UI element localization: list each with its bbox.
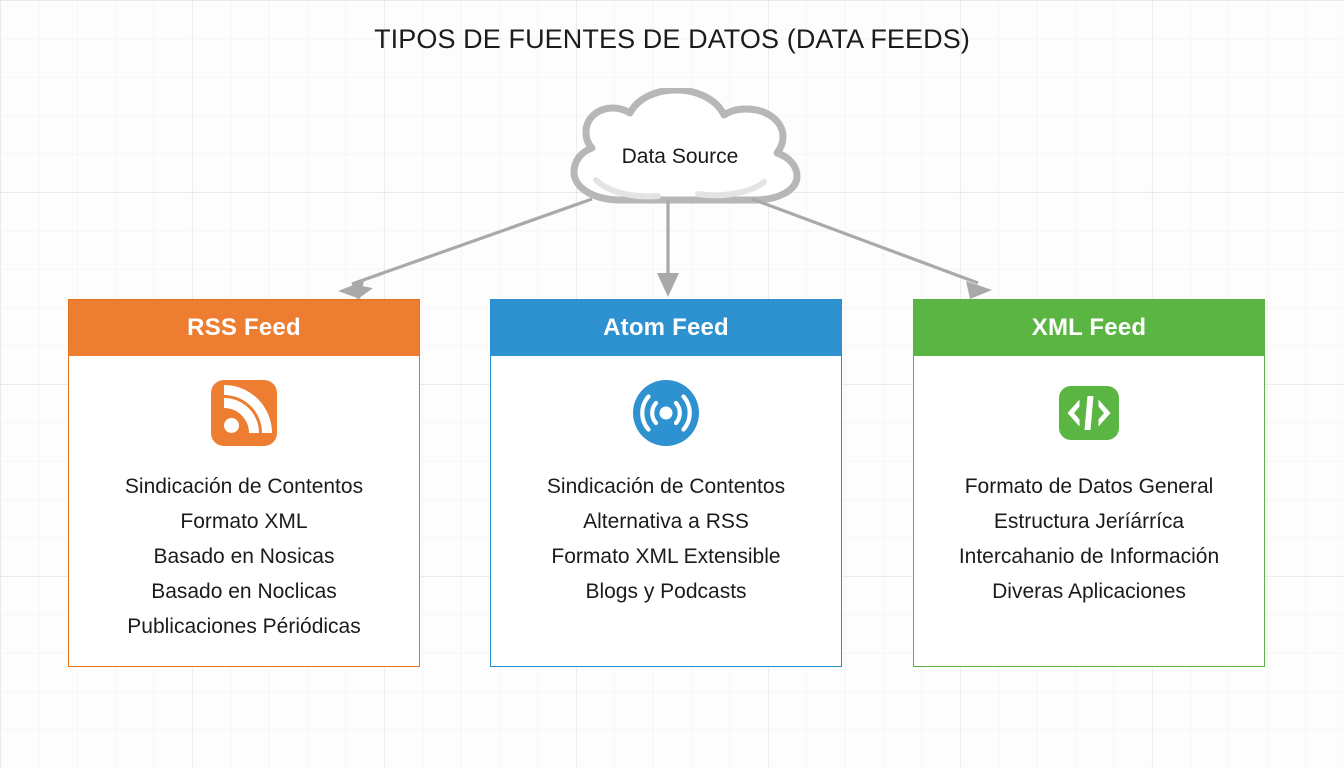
feed-card-rss[interactable]: RSS Feed Sindicación de Contentos Format… — [68, 299, 420, 667]
diagram-canvas: TIPOS DE FUENTES DE DATOS (DATA FEEDS) D… — [0, 0, 1344, 768]
arrow-to-atom — [657, 200, 679, 297]
data-source-label: Data Source — [548, 88, 806, 206]
card-line: Sindicación de Contentos — [69, 469, 419, 504]
card-line: Blogs y Podcasts — [491, 574, 841, 609]
card-line: Alternativa a RSS — [491, 504, 841, 539]
broadcast-signal-icon — [630, 377, 702, 449]
data-source-cloud: Data Source — [548, 88, 806, 206]
card-line: Formato de Datos General — [914, 469, 1264, 504]
card-header-atom: Atom Feed — [491, 300, 841, 356]
card-line: Basado en Nosicas — [69, 539, 419, 574]
card-line: Basado en Noclicas — [69, 574, 419, 609]
card-header-rss: RSS Feed — [69, 300, 419, 356]
rss-icon — [208, 377, 280, 449]
feed-card-atom[interactable]: Atom Feed Sindicación de Contentos Alter… — [490, 299, 842, 667]
card-line: Formato XML — [69, 504, 419, 539]
arrow-to-rss — [338, 199, 592, 303]
card-lines-xml: Formato de Datos General Estructura Jerí… — [914, 469, 1264, 609]
card-lines-rss: Sindicación de Contentos Formato XML Bas… — [69, 469, 419, 644]
card-lines-atom: Sindicación de Contentos Alternativa a R… — [491, 469, 841, 609]
feed-card-xml[interactable]: XML Feed Formato de Datos General Estruc… — [913, 299, 1265, 667]
card-body-rss: Sindicación de Contentos Formato XML Bas… — [69, 356, 419, 666]
code-brackets-icon — [1053, 377, 1125, 449]
card-line: Diveras Aplicaciones — [914, 574, 1264, 609]
page-title: TIPOS DE FUENTES DE DATOS (DATA FEEDS) — [0, 24, 1344, 55]
card-line: Publicaciones Périódicas — [69, 609, 419, 644]
card-line: Intercahanio de Información — [914, 539, 1264, 574]
card-line: Formato XML Extensible — [491, 539, 841, 574]
card-body-atom: Sindicación de Contentos Alternativa a R… — [491, 356, 841, 666]
arrow-to-xml — [752, 199, 992, 299]
card-line: Estructura Jeríárríca — [914, 504, 1264, 539]
card-body-xml: Formato de Datos General Estructura Jerí… — [914, 356, 1264, 666]
card-header-xml: XML Feed — [914, 300, 1264, 356]
card-line: Sindicación de Contentos — [491, 469, 841, 504]
